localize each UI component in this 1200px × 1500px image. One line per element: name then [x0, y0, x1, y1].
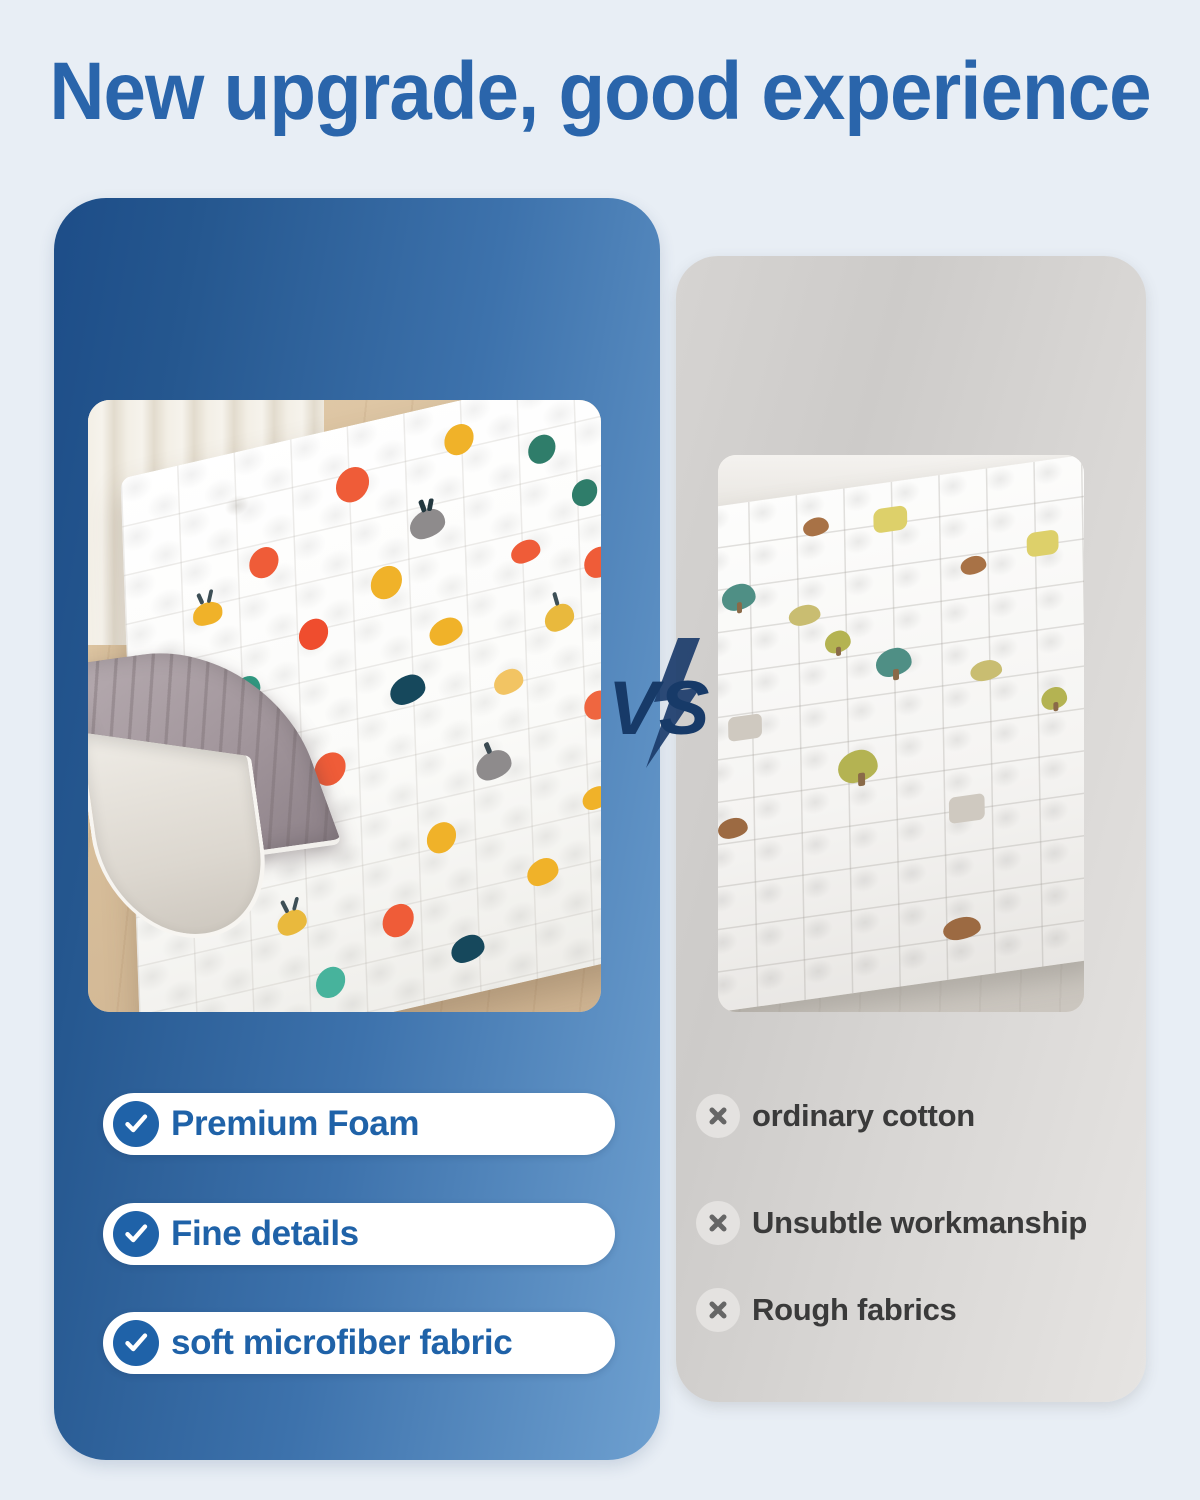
feature-pill-fine-details[interactable]: Fine details: [103, 1203, 615, 1265]
con-label: ordinary cotton: [752, 1098, 975, 1134]
feature-pill-soft-microfiber-fabric[interactable]: soft microfiber fabric: [103, 1312, 615, 1374]
quilted-mat-others: [718, 455, 1084, 1012]
feature-label: Premium Foam: [171, 1104, 419, 1144]
others-product-image: [718, 455, 1084, 1012]
vs-badge: VS: [604, 636, 716, 770]
ours-product-image: [88, 400, 601, 1012]
con-row-ordinary-cotton[interactable]: ordinary cotton: [696, 1094, 975, 1138]
x-circle-icon: [696, 1288, 740, 1332]
page-title: New upgrade, good experience: [42, 46, 1158, 138]
tent-motif: [949, 793, 985, 824]
con-row-unsubtle-workmanship[interactable]: Unsubtle workmanship: [696, 1201, 1087, 1245]
feature-label: Fine details: [171, 1214, 359, 1254]
check-circle-icon: [113, 1211, 159, 1257]
tent-motif: [728, 713, 762, 742]
x-circle-icon: [696, 1201, 740, 1245]
svg-text:VS: VS: [608, 666, 709, 751]
check-circle-icon: [113, 1320, 159, 1366]
feature-pill-premium-foam[interactable]: Premium Foam: [103, 1093, 615, 1155]
con-row-rough-fabrics[interactable]: Rough fabrics: [696, 1288, 957, 1332]
con-label: Rough fabrics: [752, 1292, 957, 1328]
x-circle-icon: [696, 1094, 740, 1138]
feature-label: soft microfiber fabric: [171, 1323, 512, 1363]
con-label: Unsubtle workmanship: [752, 1205, 1087, 1241]
check-circle-icon: [113, 1101, 159, 1147]
